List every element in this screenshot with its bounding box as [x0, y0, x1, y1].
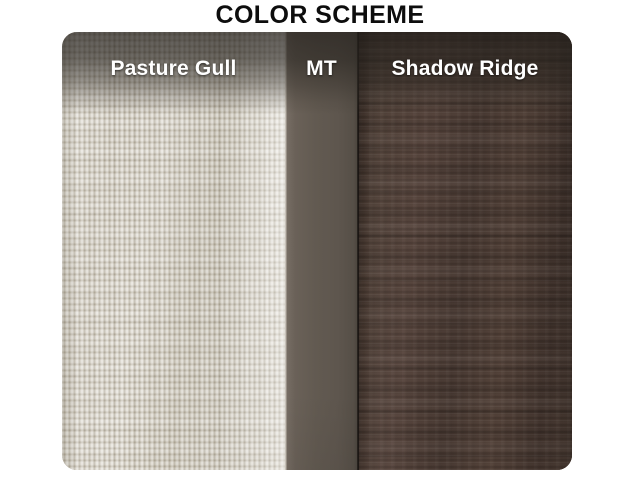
- swatch-label-mt: MT: [285, 57, 358, 81]
- swatch-label-pasture-gull: Pasture Gull: [62, 57, 285, 81]
- color-scheme-swatch-board: Pasture Gull MT Shadow Ridge: [62, 32, 572, 470]
- swatch-label-row: Pasture Gull MT Shadow Ridge: [62, 32, 572, 106]
- swatch-label-shadow-ridge: Shadow Ridge: [358, 57, 572, 81]
- page-title: COLOR SCHEME: [0, 1, 640, 29]
